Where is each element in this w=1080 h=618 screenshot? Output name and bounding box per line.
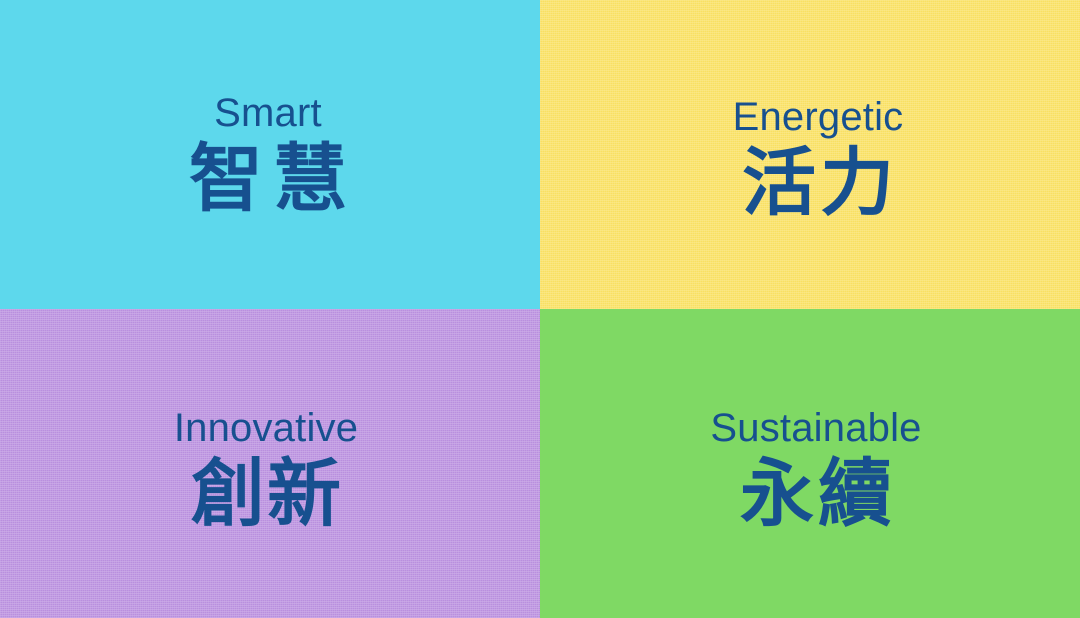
- quadrant-sustainable-label-en: Sustainable: [710, 407, 921, 449]
- quadrant-energetic-label-cjk: 活力: [738, 142, 898, 225]
- quadrant-energetic-label-en: Energetic: [733, 96, 904, 138]
- quadrant-innovative-label-en: Innovative: [174, 407, 358, 449]
- quadrant-innovative-label-cjk: 創新: [189, 453, 343, 536]
- quadrant-innovative[interactable]: Innovative 創新: [0, 309, 540, 618]
- quadrant-innovative-text-stack: Innovative 創新: [174, 407, 358, 536]
- quadrant-sustainable-label-cjk: 永續: [736, 453, 896, 536]
- quadrant-smart-label-cjk: 智慧: [179, 138, 357, 221]
- quadrant-sustainable[interactable]: Sustainable 永續: [540, 309, 1080, 618]
- quadrant-smart[interactable]: Smart 智慧: [0, 0, 540, 309]
- brand-values-grid: Smart 智慧 Energetic 活力 Innovative 創新 Sust…: [0, 0, 1080, 618]
- quadrant-energetic[interactable]: Energetic 活力: [540, 0, 1080, 309]
- quadrant-energetic-text-stack: Energetic 活力: [733, 96, 904, 225]
- quadrant-smart-label-en: Smart: [214, 92, 322, 134]
- quadrant-smart-text-stack: Smart 智慧: [179, 92, 357, 221]
- quadrant-sustainable-text-stack: Sustainable 永續: [710, 407, 921, 536]
